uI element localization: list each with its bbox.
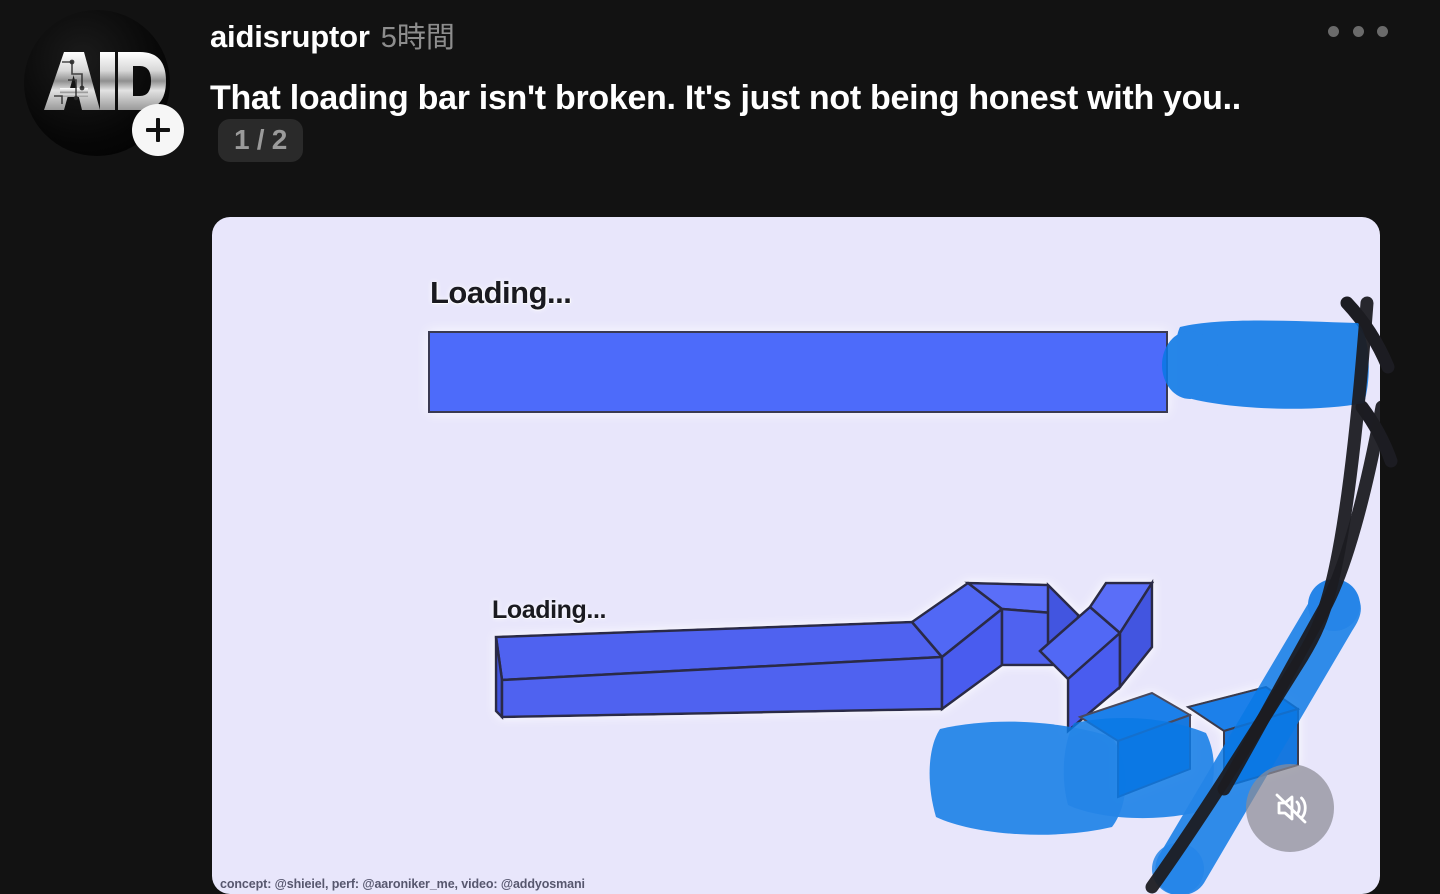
speaker-muted-icon <box>1266 784 1314 832</box>
social-post: aidisruptor 5時間 That loading bar isn't b… <box>0 0 1440 894</box>
carousel-page-badge: 1 / 2 <box>218 119 303 162</box>
mute-toggle-button[interactable] <box>1246 764 1334 852</box>
caption-text: That loading bar isn't broken. It's just… <box>210 79 1241 117</box>
post-meta: aidisruptor 5時間 <box>210 14 1300 56</box>
username[interactable]: aidisruptor <box>210 19 370 55</box>
media-frame: Loading... Loading... <box>212 217 1380 894</box>
media-credit: concept: @shieiel, perf: @aaroniker_me, … <box>220 877 585 891</box>
dot-2 <box>1353 26 1364 37</box>
post-caption[interactable]: That loading bar isn't broken. It's just… <box>210 78 1325 162</box>
timestamp: 5時間 <box>381 14 455 56</box>
post-media-card[interactable]: Loading... Loading... <box>212 217 1380 894</box>
more-options-icon[interactable] <box>1328 18 1388 44</box>
avatar-group[interactable] <box>24 10 190 156</box>
post-header: aidisruptor 5時間 That loading bar isn't b… <box>0 0 1440 200</box>
dot-1 <box>1328 26 1339 37</box>
perspective-loading-bar <box>212 217 1380 894</box>
follow-plus-icon[interactable] <box>132 104 184 156</box>
dot-3 <box>1377 26 1388 37</box>
